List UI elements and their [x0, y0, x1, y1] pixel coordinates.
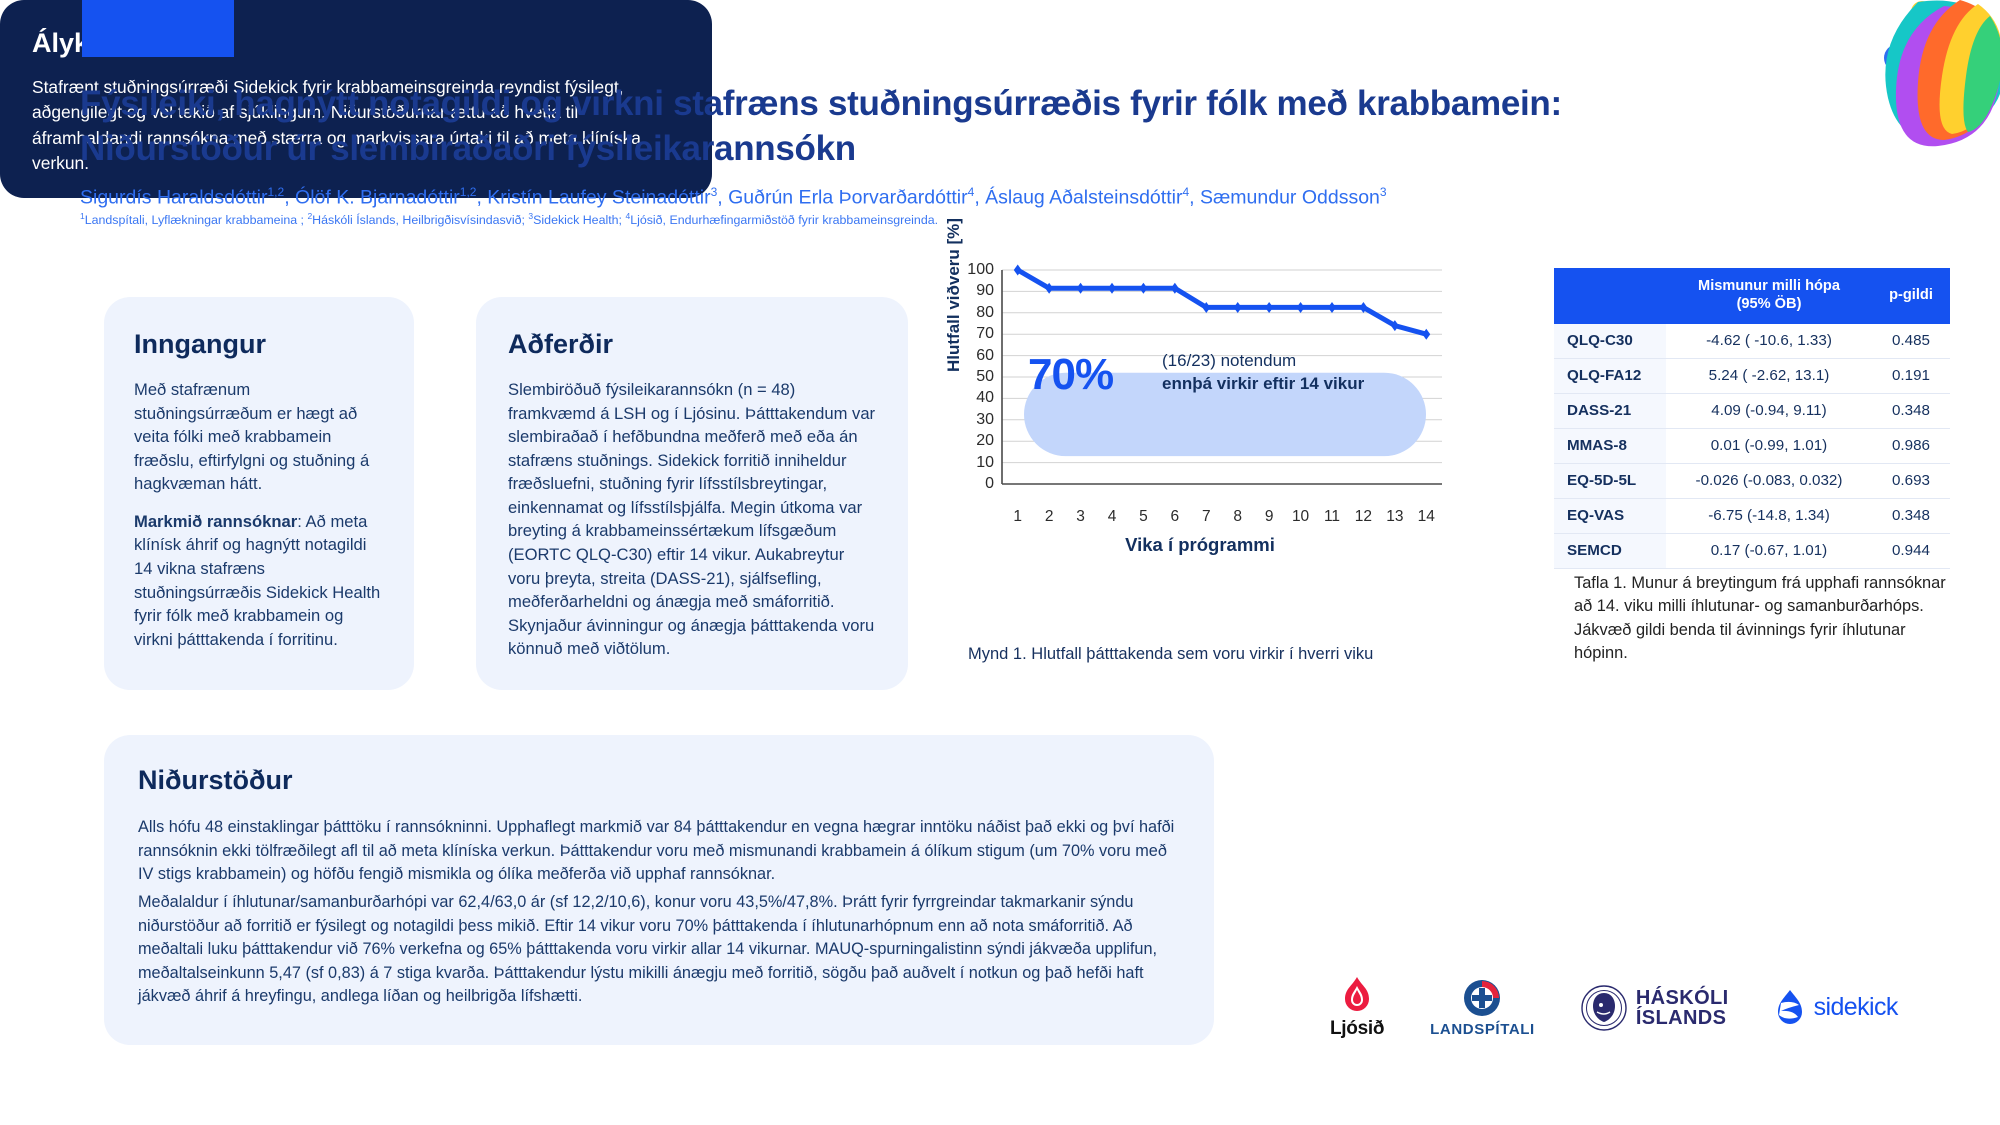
table-header-difference-line1: Mismunur milli hópa [1698, 278, 1840, 294]
table-cell-pvalue: 0.348 [1872, 393, 1950, 428]
table-cell-measure: DASS-21 [1554, 393, 1666, 428]
attendance-line-chart: Hlutfall viðveru [%] Vika í prógrammi 01… [950, 262, 1450, 562]
title-line-1: Fýsileiki, hagnýtt notagildi og virkni s… [80, 82, 1580, 127]
chart-plot [950, 262, 1450, 512]
table-header-row: Mismunur milli hópa (95% ÖB) p-gildi [1554, 268, 1950, 324]
intro-paragraph-1: Með stafrænum stuðningsúrræðum er hægt a… [134, 378, 384, 496]
results-table-wrapper: Mismunur milli hópa (95% ÖB) p-gildi QLQ… [1554, 268, 1950, 569]
table-cell-pvalue: 0.944 [1872, 533, 1950, 568]
table-cell-measure: QLQ-FA12 [1554, 358, 1666, 393]
results-paragraph-1: Alls hófu 48 einstaklingar þátttöku í ra… [138, 816, 1180, 887]
table-header: Mismunur milli hópa (95% ÖB) p-gildi [1554, 268, 1950, 324]
logo-sidekick-label: sidekick [1814, 993, 1898, 1022]
intro-heading: Inngangur [134, 329, 384, 360]
table-caption: Tafla 1. Munur á breytingum frá upphafi … [1574, 572, 1954, 665]
results-heading: Niðurstöður [138, 765, 1180, 796]
table-cell-difference: 0.01 (-0.99, 1.01) [1666, 428, 1872, 463]
table-cell-measure: EQ-VAS [1554, 498, 1666, 533]
chart-x-axis-title: Vika í prógrammi [950, 534, 1450, 556]
methods-heading: Aðferðir [508, 329, 876, 360]
table-row: MMAS-80.01 (-0.99, 1.01)0.986 [1554, 428, 1950, 463]
header-accent-bar [82, 0, 234, 57]
table-cell-pvalue: 0.986 [1872, 428, 1950, 463]
table-cell-difference: 4.09 (-0.94, 9.11) [1666, 393, 1872, 428]
table-row: QLQ-FA125.24 ( -2.62, 13.1)0.191 [1554, 358, 1950, 393]
hospital-cross-icon [1462, 978, 1502, 1018]
table-row: QLQ-C30-4.62 ( -10.6, 1.33)0.485 [1554, 324, 1950, 359]
table-cell-difference: 0.17 (-0.67, 1.01) [1666, 533, 1872, 568]
affiliations: 1Landspítali, Lyflækningar krabbameina ;… [80, 211, 1640, 228]
logo-landspitali: LANDSPÍTALI [1430, 978, 1535, 1038]
logo-haskoli-line1: HÁSKÓLI [1636, 988, 1729, 1008]
logo-haskoli-text: HÁSKÓLI ÍSLANDS [1636, 988, 1729, 1028]
table-header-pvalue: p-gildi [1872, 268, 1950, 324]
flame-icon [1340, 975, 1374, 1015]
logo-ljosid: Ljósið [1330, 975, 1384, 1040]
table-header-difference-line2: (95% ÖB) [1737, 296, 1802, 312]
table-header-measure [1554, 268, 1666, 324]
table-cell-measure: SEMCD [1554, 533, 1666, 568]
results-table: Mismunur milli hópa (95% ÖB) p-gildi QLQ… [1554, 268, 1950, 569]
table-row: SEMCD0.17 (-0.67, 1.01)0.944 [1554, 533, 1950, 568]
methods-body: Slembiröðuð fýsileikarannsókn (n = 48) f… [508, 378, 876, 661]
table-cell-difference: -6.75 (-14.8, 1.34) [1666, 498, 1872, 533]
table-row: EQ-VAS-6.75 (-14.8, 1.34)0.348 [1554, 498, 1950, 533]
logo-landspitali-label: LANDSPÍTALI [1430, 1021, 1535, 1038]
table-cell-measure: QLQ-C30 [1554, 324, 1666, 359]
intro-paragraph-2: Markmið rannsóknar: Að meta klínísk áhri… [134, 510, 384, 651]
partner-logos: Ljósið LANDSPÍTALI HÁSKÓLI ÍSLA [1330, 970, 1950, 1045]
table-cell-difference: -4.62 ( -10.6, 1.33) [1666, 324, 1872, 359]
table-row: DASS-214.09 (-0.94, 9.11)0.348 [1554, 393, 1950, 428]
table-header-difference: Mismunur milli hópa (95% ÖB) [1666, 268, 1872, 324]
sidekick-drop-icon [1775, 988, 1805, 1028]
intro-aim-text: : Að meta klínísk áhrif og hagnýtt notag… [134, 512, 380, 649]
table-cell-difference: -0.026 (-0.083, 0.032) [1666, 463, 1872, 498]
table-cell-pvalue: 0.348 [1872, 498, 1950, 533]
logo-sidekick: sidekick [1775, 988, 1898, 1028]
title-line-2: Niðurstöður úr slembiraðaðri fýsileikara… [80, 127, 1580, 172]
intro-aim-label: Markmið rannsóknar [134, 512, 297, 531]
table-cell-difference: 5.24 ( -2.62, 13.1) [1666, 358, 1872, 393]
logo-haskoli-line2: ÍSLANDS [1636, 1008, 1729, 1028]
card-methods: Aðferðir Slembiröðuð fýsileikarannsókn (… [476, 297, 908, 690]
table-body: QLQ-C30-4.62 ( -10.6, 1.33)0.485QLQ-FA12… [1554, 324, 1950, 569]
author-list: Sigurdís Haraldsdóttir1,2, Ólöf K. Bjarn… [80, 185, 1640, 210]
card-introduction: Inngangur Með stafrænum stuðningsúrræðum… [104, 297, 414, 690]
decorative-blob [1660, 0, 2000, 200]
table-row: EQ-5D-5L-0.026 (-0.083, 0.032)0.693 [1554, 463, 1950, 498]
table-cell-pvalue: 0.191 [1872, 358, 1950, 393]
logo-ljosid-label: Ljósið [1330, 1018, 1384, 1040]
results-paragraph-2: Meðalaldur í íhlutunar/samanburðarhópi v… [138, 891, 1180, 1009]
logo-haskoli-islands: HÁSKÓLI ÍSLANDS [1581, 985, 1729, 1031]
figure-caption: Mynd 1. Hlutfall þátttakenda sem voru vi… [968, 645, 1488, 664]
card-results: Niðurstöður Alls hófu 48 einstaklingar þ… [104, 735, 1214, 1045]
poster-title: Fýsileiki, hagnýtt notagildi og virkni s… [80, 82, 1580, 172]
table-cell-measure: EQ-5D-5L [1554, 463, 1666, 498]
university-seal-icon [1581, 985, 1627, 1031]
poster-root: Fýsileiki, hagnýtt notagildi og virkni s… [0, 0, 2000, 1125]
table-cell-pvalue: 0.485 [1872, 324, 1950, 359]
table-cell-measure: MMAS-8 [1554, 428, 1666, 463]
table-cell-pvalue: 0.693 [1872, 463, 1950, 498]
chart-callout-percent: 70% [1028, 350, 1113, 400]
